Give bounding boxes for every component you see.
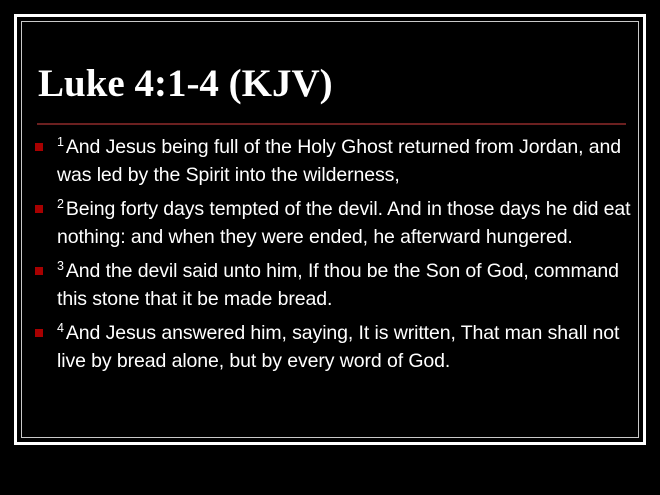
square-bullet-icon	[35, 143, 43, 151]
list-item: 3And the devil said unto him, If thou be…	[33, 258, 633, 313]
verse-body: And Jesus answered him, saying, It is wr…	[57, 322, 619, 372]
square-bullet-icon	[35, 205, 43, 213]
verse-body: And Jesus being full of the Holy Ghost r…	[57, 136, 621, 186]
slide-title: Luke 4:1-4 (KJV)	[38, 62, 618, 106]
bullet-text: 2Being forty days tempted of the devil. …	[57, 196, 633, 251]
verse-number: 3	[57, 259, 66, 273]
list-item: 4And Jesus answered him, saying, It is w…	[33, 320, 633, 375]
presentation-slide: Luke 4:1-4 (KJV) 1And Jesus being full o…	[0, 0, 660, 495]
verse-number: 1	[57, 135, 66, 149]
verse-body: Being forty days tempted of the devil. A…	[57, 198, 630, 248]
bullet-text: 3And the devil said unto him, If thou be…	[57, 258, 633, 313]
title-divider	[37, 123, 626, 125]
list-item: 1And Jesus being full of the Holy Ghost …	[33, 134, 633, 189]
square-bullet-icon	[35, 267, 43, 275]
square-bullet-icon	[35, 329, 43, 337]
verse-number: 2	[57, 197, 66, 211]
bullet-text: 4And Jesus answered him, saying, It is w…	[57, 320, 633, 375]
verse-body: And the devil said unto him, If thou be …	[57, 260, 619, 310]
list-item: 2Being forty days tempted of the devil. …	[33, 196, 633, 251]
bullet-text: 1And Jesus being full of the Holy Ghost …	[57, 134, 633, 189]
verse-number: 4	[57, 321, 66, 335]
slide-body: 1And Jesus being full of the Holy Ghost …	[33, 134, 633, 382]
